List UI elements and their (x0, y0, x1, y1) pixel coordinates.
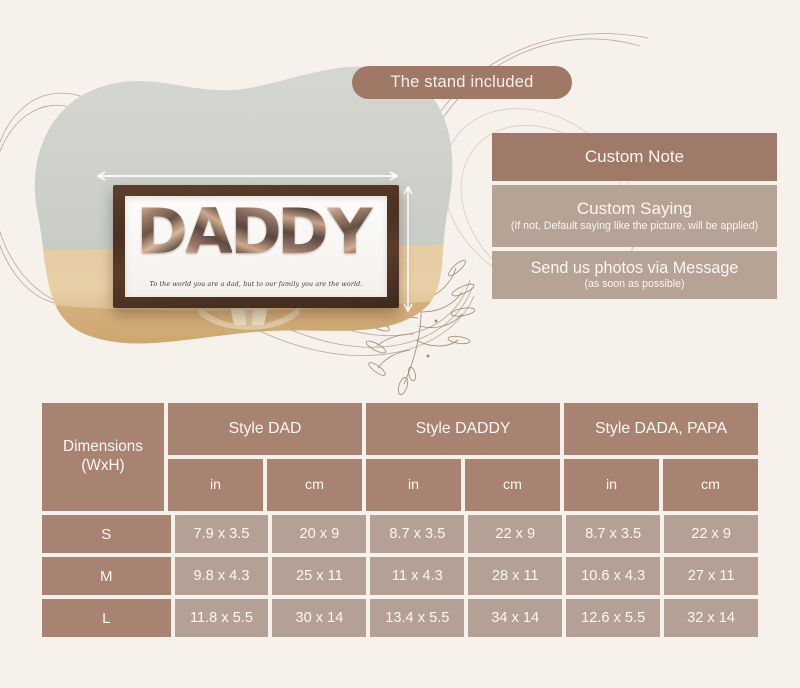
dimensions-line-1: Dimensions (63, 438, 143, 457)
stand-included-banner: The stand included (352, 66, 572, 99)
unit-header: cm (465, 459, 560, 511)
frame-mat: D A D D Y To the world you are a dad, bu… (125, 196, 387, 297)
unit-header: in (564, 459, 659, 511)
size-value: 8.7 x 3.5 (370, 515, 464, 553)
size-value: 28 x 11 (468, 557, 562, 595)
table-style-group-row: Style DAD Style DADDY Style DADA, PAPA (168, 403, 758, 459)
table-header-rows: Dimensions (WxH) Style DAD Style DADDY S… (42, 403, 758, 515)
note-box-send-photos: Send us photos via Message (as soon as p… (492, 251, 777, 299)
size-value: 11.8 x 5.5 (175, 599, 269, 637)
note-box-custom-note: Custom Note (492, 133, 777, 181)
table-row: L 11.8 x 5.5 30 x 14 13.4 x 5.5 34 x 14 … (42, 599, 758, 641)
size-value: 20 x 9 (272, 515, 366, 553)
frame-caption: To the world you are a dad, but to our f… (133, 281, 379, 288)
size-value: 8.7 x 3.5 (566, 515, 660, 553)
letter-photo-3: D (233, 200, 279, 264)
style-group-header: Style DAD (168, 403, 362, 455)
size-label: S (42, 515, 171, 553)
page-root: D A D D Y To the world you are a dad, bu… (0, 0, 800, 688)
size-chart-table: Dimensions (WxH) Style DAD Style DADDY S… (42, 403, 758, 641)
size-value: 10.6 x 4.3 (566, 557, 660, 595)
daddy-photo-letters: D A D D Y (129, 200, 383, 266)
note-title: Custom Saying (577, 199, 692, 219)
letter-photo-4: D (280, 200, 326, 264)
size-value: 22 x 9 (468, 515, 562, 553)
style-group-header: Style DADDY (366, 403, 560, 455)
size-value: 13.4 x 5.5 (370, 599, 464, 637)
size-value: 30 x 14 (272, 599, 366, 637)
note-subtitle: (If not, Default saying like the picture… (503, 220, 766, 233)
size-value: 9.8 x 4.3 (175, 557, 269, 595)
stand-included-label: The stand included (390, 73, 533, 92)
size-value: 7.9 x 3.5 (175, 515, 269, 553)
photo-frame: D A D D Y To the world you are a dad, bu… (113, 185, 399, 308)
unit-header: in (366, 459, 461, 511)
note-title: Send us photos via Message (531, 259, 739, 278)
size-value: 27 x 11 (664, 557, 758, 595)
letter-photo-1: D (139, 200, 185, 264)
size-label: L (42, 599, 171, 637)
table-row: S 7.9 x 3.5 20 x 9 8.7 x 3.5 22 x 9 8.7 … (42, 515, 758, 557)
unit-header: cm (267, 459, 362, 511)
size-value: 25 x 11 (272, 557, 366, 595)
table-header-right: Style DAD Style DADDY Style DADA, PAPA i… (168, 403, 758, 515)
size-value: 34 x 14 (468, 599, 562, 637)
letter-photo-2: A (186, 200, 232, 264)
table-corner-dimensions: Dimensions (WxH) (42, 403, 164, 511)
letter-photo-5: Y (327, 200, 373, 264)
size-label: M (42, 557, 171, 595)
note-box-custom-saying: Custom Saying (If not, Default saying li… (492, 185, 777, 247)
note-subtitle: (as soon as possible) (576, 278, 692, 291)
table-row: M 9.8 x 4.3 25 x 11 11 x 4.3 28 x 11 10.… (42, 557, 758, 599)
style-group-header: Style DADA, PAPA (564, 403, 758, 455)
size-value: 11 x 4.3 (370, 557, 464, 595)
dimensions-line-2: (WxH) (81, 457, 124, 476)
size-value: 22 x 9 (664, 515, 758, 553)
table-unit-row: in cm in cm in cm (168, 459, 758, 515)
size-value: 12.6 x 5.5 (566, 599, 660, 637)
unit-header: cm (663, 459, 758, 511)
note-title: Custom Note (585, 147, 684, 167)
order-instructions: Custom Note Custom Saying (If not, Defau… (492, 133, 777, 299)
size-value: 32 x 14 (664, 599, 758, 637)
unit-header: in (168, 459, 263, 511)
